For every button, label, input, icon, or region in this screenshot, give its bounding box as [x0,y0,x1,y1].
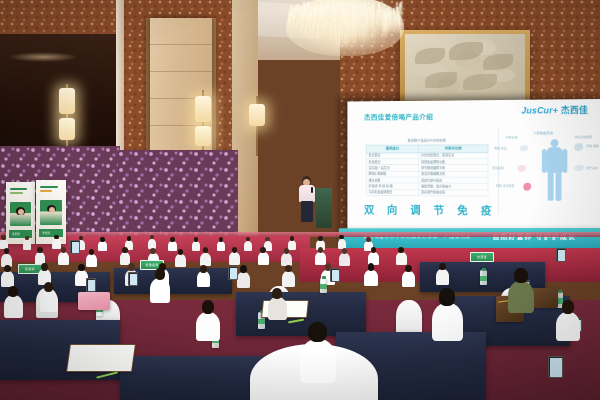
table-column-header: 作用与功效 [419,144,488,152]
audience-torso [86,254,97,267]
table-column-header: 营养成分 [366,145,418,153]
audience-torso [23,240,31,250]
passage-light-glow [8,52,78,62]
smartphone[interactable] [330,268,340,282]
human-body-silhouette [542,139,568,201]
headline-char: 向 [387,202,397,218]
logo-plus-icon: + [553,105,558,115]
audience-torso [197,271,210,287]
audience-torso [217,241,225,251]
audience-head [200,265,207,272]
audience-torso [98,241,106,251]
organ-glyph [519,145,528,151]
microphone-icon [311,187,313,193]
audience-head [155,268,166,280]
audience-head [562,300,574,314]
organ-glyph [517,165,526,172]
audience-torso [508,281,534,313]
audience-torso [364,270,377,286]
audience-head [339,235,343,240]
audience-head [308,322,327,342]
audience-head [37,247,43,253]
audience-head [1,235,5,240]
rollup-headline-1 [10,188,31,198]
audience-head [439,288,455,306]
organ-label: 骨髓 细胞 [586,144,599,148]
audience-head [4,265,11,272]
slide-divider [498,128,499,215]
audience-head [371,247,377,253]
rollup-banner-1: 张老师 [6,182,35,244]
rollup-photo-2 [40,200,62,225]
audience-torso [168,241,176,251]
audience-torso [175,254,186,267]
rollup-speaker-name-1: 张老师 [12,232,20,236]
smartphone[interactable] [70,240,80,254]
table-caption: 爱倍喝产品成分与作用机制 [366,137,489,142]
audience-torso [556,312,580,341]
audience-torso [192,241,200,251]
audience-torso [315,252,326,265]
audience-torso [300,339,336,383]
audience-head [89,249,95,255]
audience-torso [229,252,240,265]
audience-head [366,237,370,242]
audience-head [41,263,48,270]
figure-title: 人体免疫系统 [533,130,553,135]
table-row: 牛初乳免疫球蛋白双向调节免疫应答 [366,189,488,196]
audience-head [178,249,184,255]
audience-torso [1,271,14,287]
audience-head [8,286,18,297]
table-cell: 牛初乳免疫球蛋白 [366,189,418,195]
carved-relief-panel [405,34,525,100]
phone-screen [332,270,339,281]
audience-head [100,237,104,242]
bottle-label [258,319,265,324]
phone-screen [550,358,562,377]
body-arm-left [542,149,547,173]
audience-head [194,237,198,242]
audience-torso [200,253,211,266]
headline-char: 疫 [481,202,492,218]
audience-torso [40,291,58,313]
table-cell: 双向调节免疫应答 [419,190,488,197]
slide-headline: 双向调节免疫 [364,202,491,218]
organ-label: 胸腺 免疫 [494,146,506,150]
brand-logo: JusCur+ 杰西佳 [521,103,588,116]
rollup-footer-2: 李老师 [39,229,63,237]
audience-head [439,263,446,270]
audience-torso [281,253,292,266]
crystal-chandelier [286,0,404,92]
phone-screen [558,250,565,261]
audience-head [285,265,292,272]
audience-torso [258,252,269,265]
bottle-cap [482,268,486,271]
audience-torso [339,253,350,266]
audience-head [272,288,282,299]
podium [316,188,332,228]
audience-head [318,236,322,241]
audience-head [122,247,128,253]
rollup-speaker-name-2: 李老师 [42,231,50,235]
projection-screen: 杰西佳爱倍喝产品介绍 JusCur+ 杰西佳 爱倍喝产品成分与作用机制 营养成分… [347,99,600,231]
headline-char: 双 [364,202,374,218]
audience-head [170,237,174,242]
audience-head [405,265,412,272]
audience-head [514,268,528,283]
audience-head [290,236,294,241]
audience-torso [150,278,170,303]
audience-head [240,265,247,272]
audience-torso [268,297,287,320]
organ-glyph [523,183,531,191]
phone-screen [230,268,237,279]
smartphone[interactable] [548,356,563,378]
smartphone[interactable] [128,272,138,286]
audience-head [284,248,290,254]
organ-label: 淋巴系统 [586,166,598,170]
wall-sconce [246,96,268,168]
audience-torso [58,252,69,265]
rollup-banner-2: 李老师 [36,180,66,244]
body-arm-right [562,149,567,173]
audience-torso [282,271,295,287]
bottle-label [320,284,327,289]
conference-photo: 杰西佳爱倍喝产品介绍 JusCur+ 杰西佳 爱倍喝产品成分与作用机制 营养成分… [0,0,600,400]
water-bottle[interactable] [320,278,327,293]
presenter [296,176,318,222]
smartphone[interactable] [86,278,96,292]
body-head [551,139,559,147]
audience-torso [432,303,463,341]
body-leg-right [556,172,562,201]
bottle-cap [558,290,562,293]
bottle-label [480,276,487,281]
audience-torso [436,269,449,285]
audience-head [54,235,58,240]
body-leg-left [548,172,554,201]
handbag[interactable] [532,288,558,308]
audience-head [127,236,131,241]
audience-head [128,263,135,270]
slide-ingredient-table: 爱倍喝产品成分与作用机制 营养成分作用与功效 乳清蛋白补充优质蛋白，促进生长乳铁… [366,137,489,196]
audience-head [398,247,404,253]
phone-screen [88,280,95,291]
phone-screen [130,274,137,285]
table-name-card: 杰西佳 [470,252,494,262]
organ-glyph [574,165,584,171]
audience-head [260,247,266,253]
figure-label-right: 消化系统屏障 [574,135,592,139]
phone-screen [72,242,79,253]
table-header-row: 营养成分作用与功效 [366,144,488,152]
body-torso [547,147,563,173]
table-body: 乳清蛋白补充优质蛋白，促进生长乳铁蛋白增强免疫屏障功能益生菌 + 益生元调节肠道… [366,152,488,196]
logo-text-en: JusCur [521,105,552,115]
audience-head [368,263,375,270]
water-bottle[interactable] [480,270,487,285]
pink-bag[interactable] [78,292,110,310]
organ-label: 脾脏 免疫器官 [496,184,514,188]
audience-torso [288,240,296,250]
audience-torso [237,272,250,288]
audience-head [150,248,156,254]
organ-glyph [574,143,583,151]
presenter-trousers [301,201,313,222]
headline-char: 调 [410,202,420,218]
rollup-photo-1 [10,202,31,226]
smartphone[interactable] [228,266,238,280]
smartphone[interactable] [556,248,566,262]
audience-torso [4,295,23,318]
bottle-cap [322,276,326,279]
slide-title: 杰西佳爱倍喝产品介绍 [364,112,433,122]
headline-char: 免 [457,202,467,218]
headline-char: 节 [434,202,444,218]
audience-head [202,300,214,314]
organ-label: 肠道黏膜 [492,166,504,170]
audience-torso [244,241,252,251]
rollup-headline-2 [40,186,62,196]
audience-torso [52,239,60,249]
chair-cover[interactable] [396,300,422,334]
audience-torso [396,252,407,265]
notepad[interactable] [66,344,136,372]
audience-torso [402,271,415,287]
audience-head [78,264,85,271]
figure-label-left: 呼吸系统 [506,135,518,139]
logo-text-cn: 杰西佳 [561,105,588,115]
audience-torso [196,312,220,341]
